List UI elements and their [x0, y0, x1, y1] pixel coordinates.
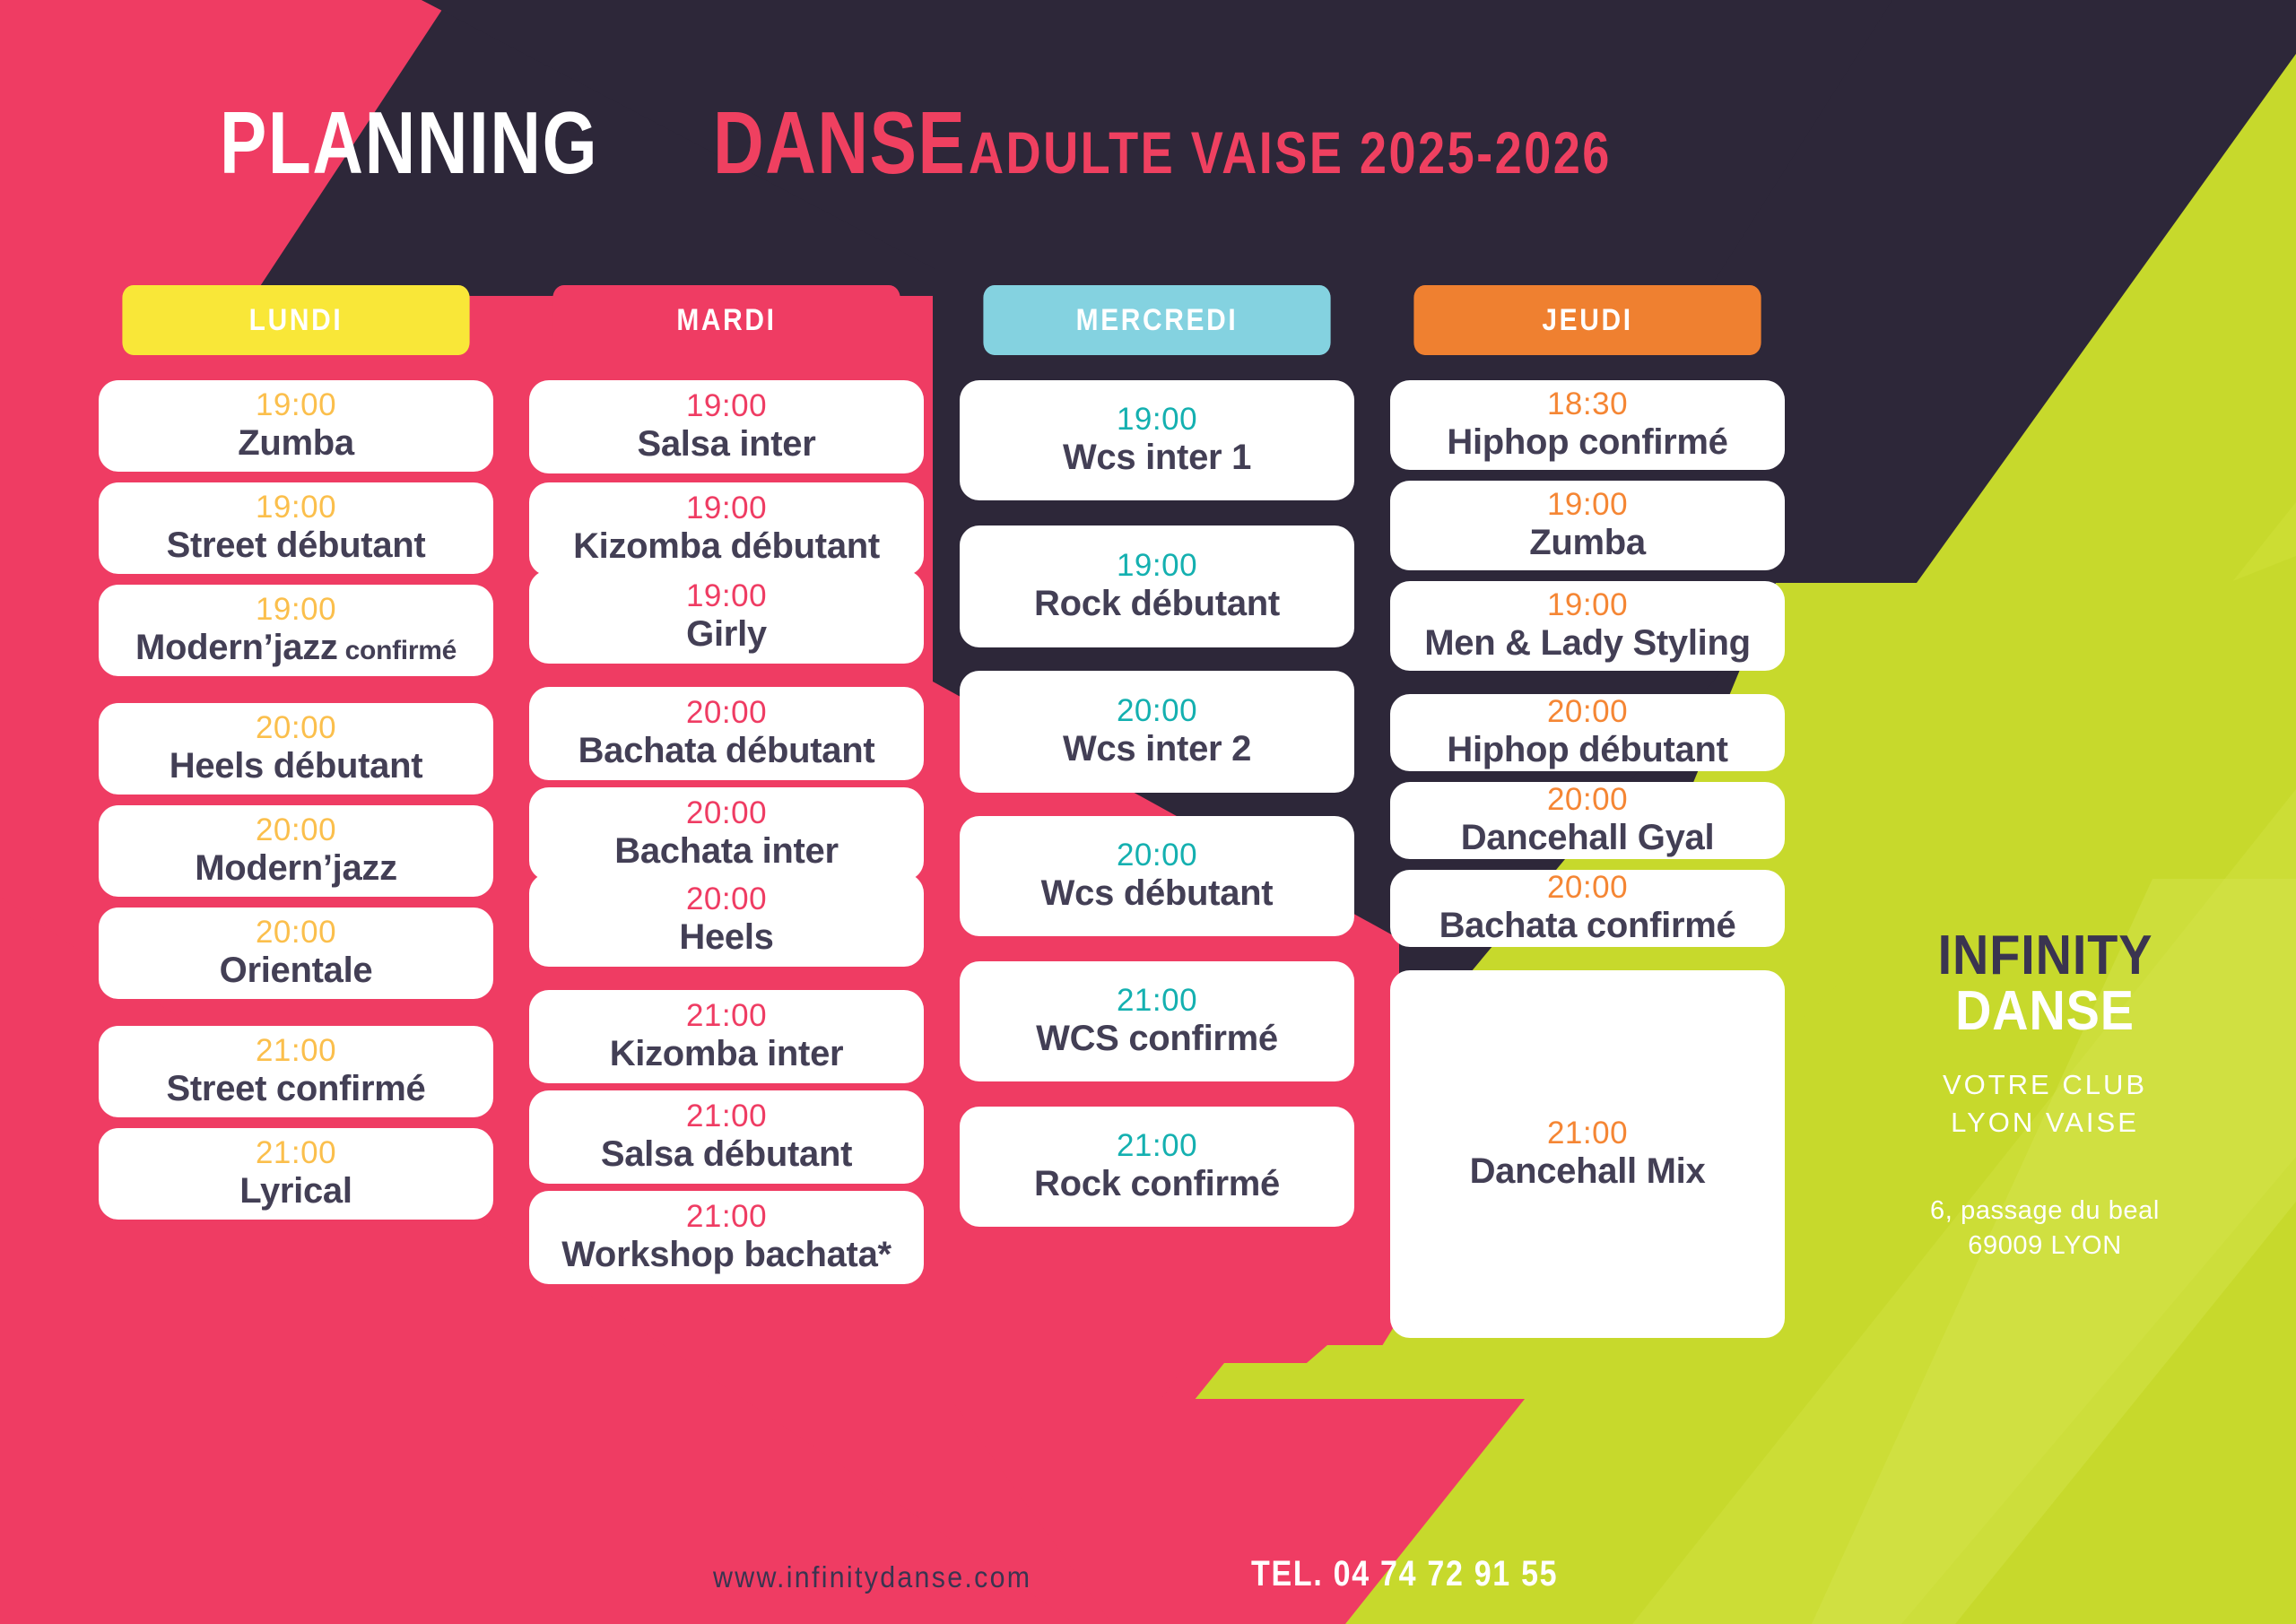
class-name: Dancehall Gyal: [1399, 818, 1776, 858]
day-header-jeudi[interactable]: JEUDI: [1413, 285, 1761, 355]
schedule-column-lundi: LUNDI19:00Zumba19:00Street débutant19:00…: [99, 285, 493, 1338]
class-name: Dancehall Mix: [1399, 1151, 1776, 1192]
class-name: Workshop bachata*: [538, 1235, 915, 1275]
club-tagline: VOTRE CLUB LYON VAISE: [1834, 1066, 2256, 1142]
class-name: Zumba: [1399, 523, 1776, 563]
class-name-main: Wcs débutant: [1041, 873, 1274, 913]
title-subtitle: ADULTE VAISE 2025-2026: [969, 123, 1612, 182]
class-name-main: Orientale: [220, 951, 373, 990]
class-card[interactable]: 21:00Salsa débutant: [529, 1090, 924, 1184]
class-name-main: Rock débutant: [1034, 584, 1280, 623]
class-name-main: Kizomba inter: [610, 1034, 844, 1073]
class-name-main: Bachata débutant: [578, 731, 875, 770]
class-name-main: Hiphop débutant: [1447, 730, 1727, 769]
class-name: Wcs débutant: [969, 873, 1345, 914]
club-line-1: VOTRE CLUB: [1834, 1066, 2256, 1104]
class-name-main: Heels débutant: [170, 746, 423, 786]
address-line-1: 6, passage du beal: [1834, 1194, 2256, 1229]
class-name-main: Bachata confirmé: [1439, 906, 1736, 945]
class-time: 19:00: [1399, 486, 1776, 523]
footer-website[interactable]: www.infinitydanse.com: [713, 1560, 1031, 1594]
class-card[interactable]: 21:00Dancehall Mix: [1390, 970, 1785, 1338]
class-card[interactable]: 19:00Kizomba débutant: [529, 482, 924, 576]
class-card[interactable]: 20:00Orientale: [99, 908, 493, 999]
class-time: 21:00: [538, 1198, 915, 1235]
class-time: 20:00: [969, 837, 1345, 873]
class-time: 20:00: [1399, 693, 1776, 730]
class-time: 20:00: [969, 692, 1345, 729]
class-name: Lyrical: [108, 1171, 484, 1211]
class-name-main: Modern’jazz: [195, 848, 397, 888]
class-name: Rock débutant: [969, 584, 1345, 624]
club-address: 6, passage du beal 69009 LYON: [1834, 1194, 2256, 1264]
class-time: 19:00: [969, 401, 1345, 438]
class-name: Wcs inter 2: [969, 729, 1345, 769]
class-name: Bachata débutant: [538, 731, 915, 771]
class-name-main: WCS confirmé: [1036, 1019, 1278, 1058]
class-time: 20:00: [108, 812, 484, 848]
class-card[interactable]: 21:00Street confirmé: [99, 1026, 493, 1117]
class-card[interactable]: 21:00Kizomba inter: [529, 990, 924, 1083]
class-time: 21:00: [538, 1098, 915, 1134]
schedule-column-mardi: MARDI19:00Salsa inter19:00Kizomba débuta…: [529, 285, 924, 1338]
class-card[interactable]: 19:00Street débutant: [99, 482, 493, 574]
class-card[interactable]: 20:00Hiphop débutant: [1390, 694, 1785, 771]
class-time: 20:00: [108, 709, 484, 746]
class-name: Salsa inter: [538, 424, 915, 465]
class-name-main: Salsa inter: [637, 424, 815, 464]
class-name: Bachata inter: [538, 831, 915, 872]
class-name-main: Street confirmé: [167, 1069, 426, 1108]
class-card[interactable]: 21:00Rock confirmé: [960, 1107, 1354, 1227]
class-name: Girly: [538, 614, 915, 655]
class-card[interactable]: 19:00Zumba: [1390, 481, 1785, 570]
class-card[interactable]: 20:00Wcs débutant: [960, 816, 1354, 936]
class-time: 19:00: [538, 578, 915, 614]
class-name-main: Men & Lady Styling: [1424, 623, 1751, 663]
title-planning: PLANNING: [220, 99, 598, 187]
class-time: 19:00: [108, 489, 484, 525]
class-name: Heels: [538, 917, 915, 958]
day-header-mercredi[interactable]: MERCREDI: [983, 285, 1330, 355]
class-card[interactable]: 21:00WCS confirmé: [960, 961, 1354, 1081]
class-card[interactable]: 21:00Lyrical: [99, 1128, 493, 1220]
class-time: 21:00: [538, 997, 915, 1034]
class-name: Street confirmé: [108, 1069, 484, 1109]
class-name-main: Street débutant: [167, 525, 426, 565]
class-name: WCS confirmé: [969, 1019, 1345, 1059]
class-time: 19:00: [108, 386, 484, 423]
class-card[interactable]: 20:00Bachata débutant: [529, 687, 924, 780]
class-time: 20:00: [538, 881, 915, 917]
class-time: 21:00: [969, 982, 1345, 1019]
class-card[interactable]: 21:00Workshop bachata*: [529, 1191, 924, 1284]
class-name-main: Workshop bachata*: [561, 1235, 891, 1274]
class-card[interactable]: 20:00Heels: [529, 873, 924, 967]
class-name-main: Wcs inter 2: [1063, 729, 1251, 769]
class-card[interactable]: 19:00Wcs inter 1: [960, 380, 1354, 500]
class-time: 18:30: [1399, 386, 1776, 422]
class-time: 20:00: [1399, 869, 1776, 906]
class-time: 19:00: [969, 547, 1345, 584]
schedule-column-mercredi: MERCREDI19:00Wcs inter 119:00Rock débuta…: [960, 285, 1354, 1338]
class-name-level: confirmé: [338, 636, 457, 665]
class-card[interactable]: 20:00Dancehall Gyal: [1390, 782, 1785, 859]
day-header-mardi[interactable]: MARDI: [552, 285, 900, 355]
class-name-main: Salsa débutant: [601, 1134, 852, 1174]
title-danse: DANSE: [713, 99, 966, 187]
class-name: Zumba: [108, 423, 484, 464]
class-name: Bachata confirmé: [1399, 906, 1776, 946]
class-name: Hiphop débutant: [1399, 730, 1776, 770]
class-time: 21:00: [969, 1127, 1345, 1164]
class-name: Modern’jazz confirmé: [108, 628, 484, 668]
class-name: Wcs inter 1: [969, 438, 1345, 478]
class-name-main: Heels: [679, 917, 773, 957]
class-card[interactable]: 19:00Zumba: [99, 380, 493, 472]
class-time: 20:00: [538, 795, 915, 831]
class-name: Kizomba inter: [538, 1034, 915, 1074]
class-name-main: Wcs inter 1: [1063, 438, 1251, 477]
class-time: 20:00: [108, 914, 484, 951]
class-name: Kizomba débutant: [538, 526, 915, 567]
day-header-lundi[interactable]: LUNDI: [122, 285, 469, 355]
schedule-grid: LUNDI19:00Zumba19:00Street débutant19:00…: [99, 285, 1839, 1338]
class-name-main: Rock confirmé: [1034, 1164, 1280, 1203]
class-time: 21:00: [1399, 1115, 1776, 1151]
class-card[interactable]: 20:00Bachata confirmé: [1390, 870, 1785, 947]
class-name-main: Dancehall Mix: [1470, 1151, 1706, 1191]
class-card[interactable]: 20:00Modern’jazz: [99, 805, 493, 897]
class-name-main: Dancehall Gyal: [1461, 818, 1715, 857]
class-time: 21:00: [108, 1134, 484, 1171]
class-time: 19:00: [108, 591, 484, 628]
class-card[interactable]: 19:00Modern’jazz confirmé: [99, 585, 493, 676]
class-name: Street débutant: [108, 525, 484, 566]
class-name-main: Lyrical: [239, 1171, 352, 1211]
class-name: Men & Lady Styling: [1399, 623, 1776, 664]
class-time: 19:00: [538, 490, 915, 526]
poster-title: PLANNING DANSE ADULTE VAISE 2025-2026: [0, 99, 1973, 187]
club-line-2: LYON VAISE: [1834, 1104, 2256, 1142]
class-card[interactable]: 18:30Hiphop confirmé: [1390, 380, 1785, 470]
class-name: Modern’jazz: [108, 848, 484, 889]
class-card-list: 19:00Salsa inter19:00Kizomba débutant19:…: [529, 380, 924, 1284]
class-name: Salsa débutant: [538, 1134, 915, 1175]
class-card-list: 18:30Hiphop confirmé19:00Zumba19:00Men &…: [1390, 380, 1785, 1338]
class-card[interactable]: 19:00Men & Lady Styling: [1390, 581, 1785, 671]
class-card-list: 19:00Wcs inter 119:00Rock débutant20:00W…: [960, 380, 1354, 1227]
class-name-main: Hiphop confirmé: [1447, 422, 1727, 462]
class-card[interactable]: 20:00Wcs inter 2: [960, 671, 1354, 793]
brand-logo: INFINITY DANSE: [1856, 928, 2235, 1039]
class-name: Heels débutant: [108, 746, 484, 786]
class-name-main: Bachata inter: [614, 831, 839, 871]
class-card[interactable]: 20:00Heels débutant: [99, 703, 493, 795]
brand-infinity: INFINITY: [1938, 925, 2152, 986]
class-name-main: Kizomba débutant: [573, 526, 880, 566]
class-time: 19:00: [1399, 586, 1776, 623]
footer-phone[interactable]: TEL. 04 74 72 91 55: [1251, 1554, 1558, 1594]
class-card[interactable]: 20:00Bachata inter: [529, 787, 924, 881]
class-name-main: Zumba: [238, 423, 354, 463]
class-card[interactable]: 19:00Rock débutant: [960, 525, 1354, 647]
class-card-list: 19:00Zumba19:00Street débutant19:00Moder…: [99, 380, 493, 1220]
class-time: 20:00: [538, 694, 915, 731]
class-time: 19:00: [538, 387, 915, 424]
brand-danse: DANSE: [1955, 980, 2135, 1042]
class-time: 20:00: [1399, 781, 1776, 818]
address-line-2: 69009 LYON: [1834, 1229, 2256, 1264]
planning-poster: PLANNING DANSE ADULTE VAISE 2025-2026 LU…: [0, 0, 2296, 1624]
class-name-main: Zumba: [1529, 523, 1646, 562]
club-info: INFINITY DANSE VOTRE CLUB LYON VAISE 6, …: [1834, 928, 2256, 1264]
class-name: Orientale: [108, 951, 484, 991]
class-name: Rock confirmé: [969, 1164, 1345, 1204]
class-name-main: Modern’jazz: [135, 628, 338, 667]
class-card[interactable]: 19:00Girly: [529, 570, 924, 664]
class-card[interactable]: 19:00Salsa inter: [529, 380, 924, 473]
class-name: Hiphop confirmé: [1399, 422, 1776, 463]
class-time: 21:00: [108, 1032, 484, 1069]
schedule-column-jeudi: JEUDI18:30Hiphop confirmé19:00Zumba19:00…: [1390, 285, 1785, 1338]
class-name-main: Girly: [686, 614, 767, 654]
